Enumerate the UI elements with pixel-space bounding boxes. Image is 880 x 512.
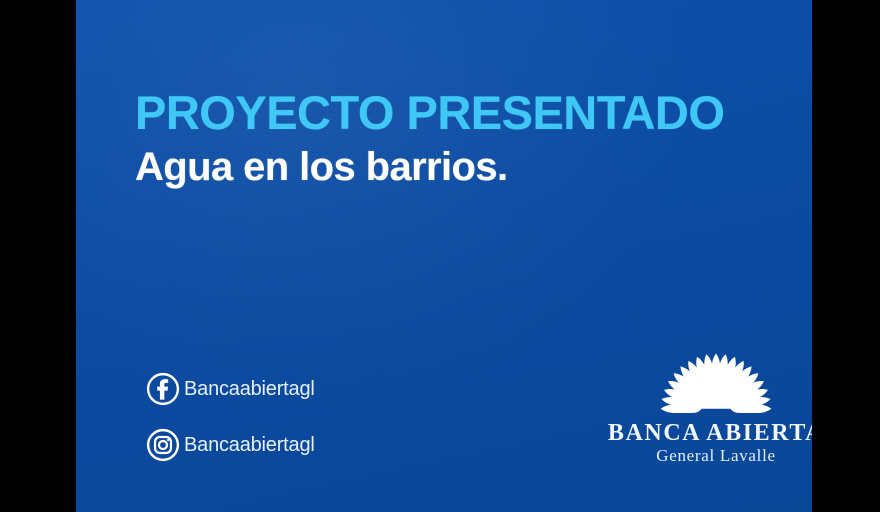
brand-logo: BANCA ABIERTA General Lavalle <box>592 300 812 466</box>
facebook-icon <box>146 372 180 406</box>
social-handle-instagram: Bancaabiertagl <box>184 435 315 455</box>
instagram-icon <box>146 428 180 462</box>
page-title: PROYECTO PRESENTADO <box>135 88 795 137</box>
page-subtitle: Agua en los barrios. <box>135 146 795 188</box>
headline-block: PROYECTO PRESENTADO Agua en los barrios. <box>135 88 795 188</box>
letterbox-bar-left <box>0 0 76 512</box>
social-link-instagram[interactable]: Bancaabiertagl <box>146 424 315 466</box>
slide-background: PROYECTO PRESENTADO Agua en los barrios.… <box>76 0 812 512</box>
sunburst-icon <box>605 300 812 418</box>
social-link-facebook[interactable]: Bancaabiertagl <box>146 368 315 410</box>
video-frame: PROYECTO PRESENTADO Agua en los barrios.… <box>0 0 880 512</box>
brand-name: BANCA ABIERTA <box>592 421 812 446</box>
letterbox-bar-right <box>812 0 880 512</box>
social-handle-facebook: Bancaabiertagl <box>184 379 315 399</box>
social-links: Bancaabiertagl Bancaabiertagl <box>146 368 315 480</box>
brand-location: General Lavalle <box>592 447 812 466</box>
